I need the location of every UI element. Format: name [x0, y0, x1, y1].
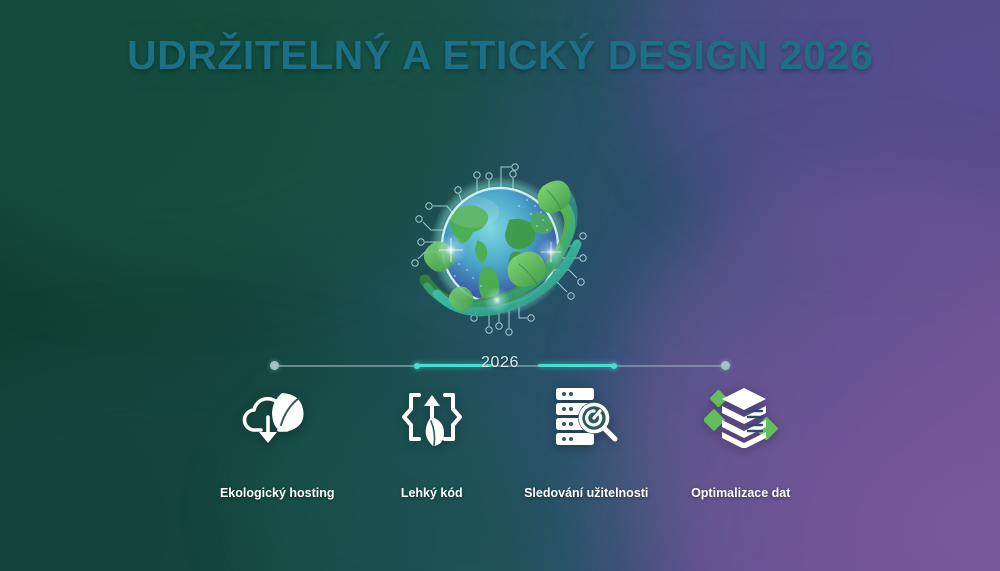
feature-label: Ekologický hosting: [220, 486, 335, 500]
feature-row: Ekologický hosting Lehký kód: [200, 386, 818, 500]
timeline[interactable]: 2026: [270, 356, 730, 376]
data-stack-diamonds-icon: [704, 386, 778, 448]
slide-canvas: UDRŽITELNÝ A ETICKÝ DESIGN 2026: [0, 0, 1000, 571]
feature-label: Sledování užitelnosti: [524, 486, 648, 500]
hero-illustration: [385, 148, 615, 348]
feature-item-data-optimization[interactable]: Optimalizace dat: [664, 386, 819, 500]
feature-label: Optimalizace dat: [691, 486, 790, 500]
timeline-year-label: 2026: [270, 354, 730, 372]
feature-label: Lehký kód: [401, 486, 463, 500]
cloud-download-leaf-icon: [241, 386, 313, 448]
code-brackets-arrow-leaf-icon: [398, 386, 466, 448]
page-title: UDRŽITELNÝ A ETICKÝ DESIGN 2026: [0, 32, 1000, 79]
server-magnifier-icon: [550, 386, 622, 448]
feature-item-light-code[interactable]: Lehký kód: [355, 386, 510, 500]
feature-item-usability-tracking[interactable]: Sledování užitelnosti: [509, 386, 664, 500]
feature-item-eco-hosting[interactable]: Ekologický hosting: [200, 386, 355, 500]
